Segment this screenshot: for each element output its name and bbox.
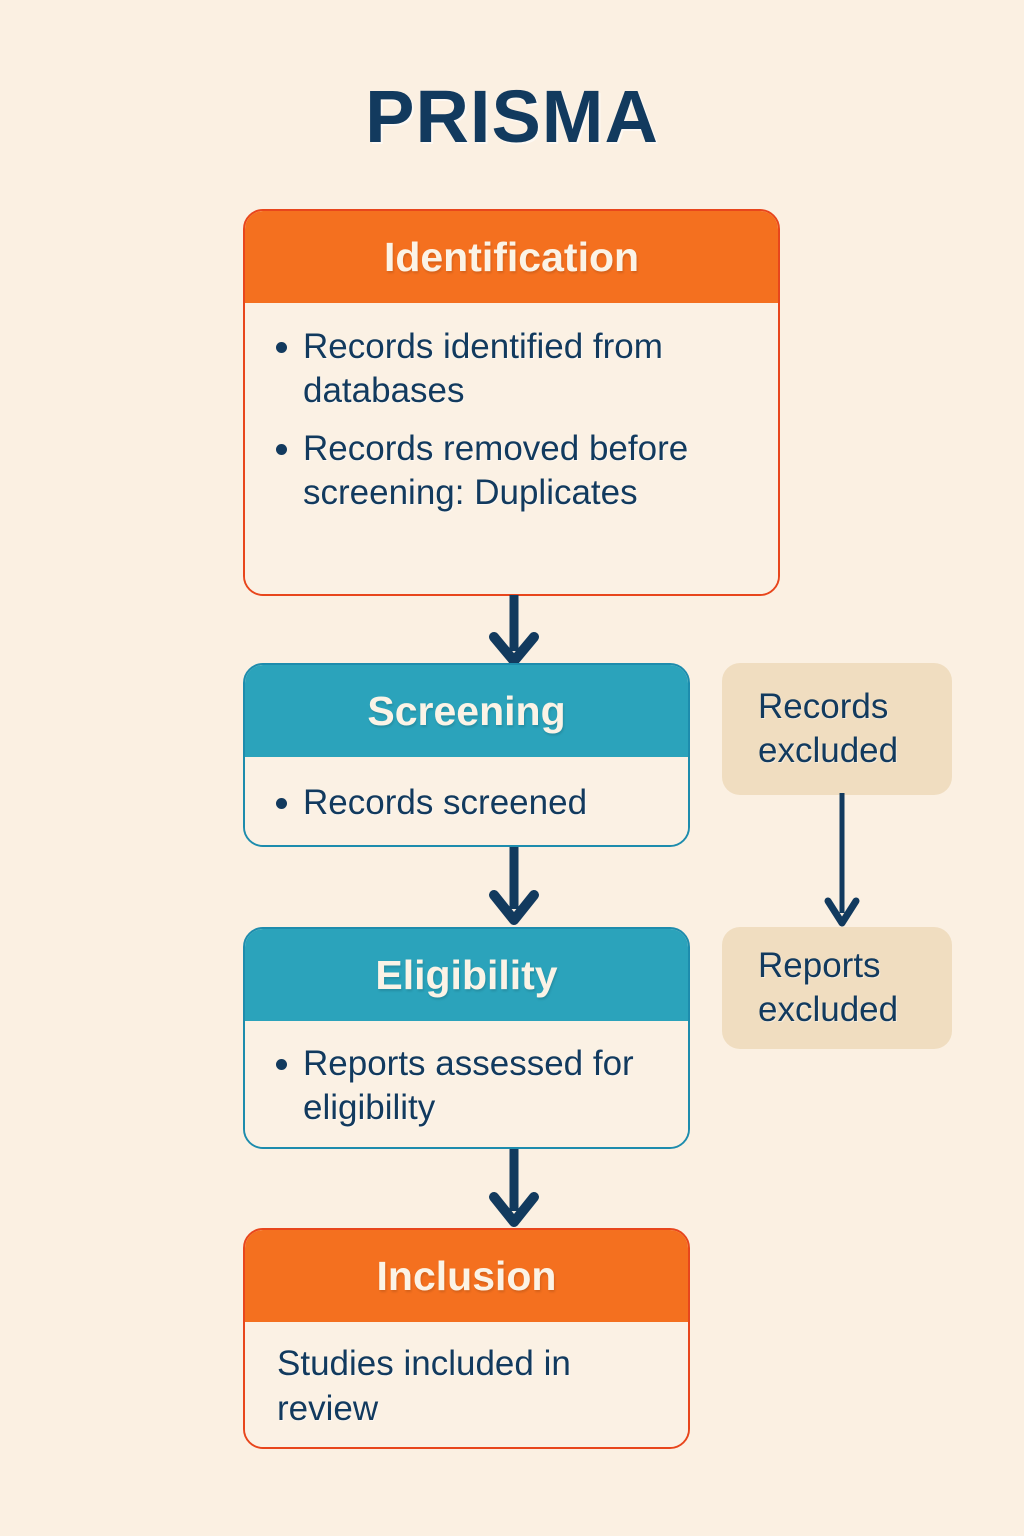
list-item: Records removed before screening: Duplic… xyxy=(271,427,752,515)
bullet-list-identification: Records identified from databases Record… xyxy=(271,325,752,515)
stage-body-inclusion: Studies included in review xyxy=(245,1322,688,1449)
bullet-list-eligibility: Reports assessed for eligibility xyxy=(271,1042,662,1130)
stage-box-screening: Screening Records screened xyxy=(243,663,690,847)
stage-header-identification: Identification xyxy=(245,211,778,303)
page-title: PRISMA xyxy=(0,74,1024,159)
stage-header-screening: Screening xyxy=(245,665,688,757)
inclusion-text: Studies included in review xyxy=(277,1342,662,1430)
arrow-records-excluded-to-reports-excluded xyxy=(812,793,872,931)
list-item: Reports assessed for eligibility xyxy=(271,1042,662,1130)
excluded-box-reports-excluded: Reports excluded xyxy=(722,927,952,1049)
stage-box-eligibility: Eligibility Reports assessed for eligibi… xyxy=(243,927,690,1149)
prisma-flow-diagram: PRISMA Identification Records identified… xyxy=(0,0,1024,1536)
arrow-identification-to-screening xyxy=(483,593,545,667)
stage-box-identification: Identification Records identified from d… xyxy=(243,209,780,596)
excluded-label: Records excluded xyxy=(758,685,952,773)
list-item: Records identified from databases xyxy=(271,325,752,413)
stage-header-inclusion: Inclusion xyxy=(245,1230,688,1322)
stage-body-identification: Records identified from databases Record… xyxy=(245,303,778,596)
arrow-screening-to-eligibility xyxy=(483,845,545,927)
excluded-label: Reports excluded xyxy=(758,944,952,1032)
bullet-list-screening: Records screened xyxy=(271,781,662,825)
stage-box-inclusion: Inclusion Studies included in review xyxy=(243,1228,690,1449)
arrow-eligibility-to-inclusion xyxy=(483,1147,545,1229)
stage-header-eligibility: Eligibility xyxy=(245,929,688,1021)
list-item: Records screened xyxy=(271,781,662,825)
stage-body-screening: Records screened xyxy=(245,757,688,847)
stage-body-eligibility: Reports assessed for eligibility xyxy=(245,1021,688,1149)
excluded-box-records-excluded: Records excluded xyxy=(722,663,952,795)
